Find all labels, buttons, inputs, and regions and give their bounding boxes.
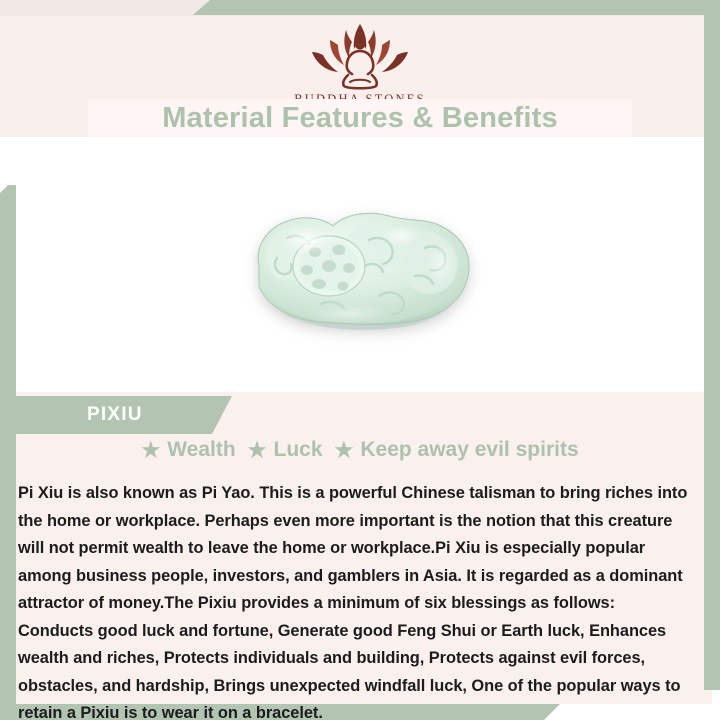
benefit-item-evil-spirits: ★ Keep away evil spirits xyxy=(335,438,579,462)
top-right-green-accent xyxy=(193,0,720,15)
star-icon: ★ xyxy=(141,440,160,461)
category-label: PIXIU xyxy=(87,404,143,426)
benefits-list: ★ Wealth ★ Luck ★ Keep away evil spirits xyxy=(0,438,720,462)
section-title-banner: Material Features & Benefits xyxy=(88,99,632,137)
benefit-label: Luck xyxy=(274,438,323,462)
jade-pixiu-svg xyxy=(229,204,491,334)
star-icon: ★ xyxy=(248,440,267,461)
page-title: Material Features & Benefits xyxy=(162,102,558,135)
product-image-container xyxy=(16,150,704,388)
product-info-card: BUDDHA STONES Material Features & Benefi… xyxy=(0,0,720,720)
category-band: PIXIU xyxy=(0,396,232,434)
benefit-label: Wealth xyxy=(167,438,235,462)
product-description: Pi Xiu is also known as Pi Yao. This is … xyxy=(18,480,694,720)
benefit-label: Keep away evil spirits xyxy=(360,438,578,462)
benefit-item-luck: ★ Luck xyxy=(248,438,323,462)
brand-logo: BUDDHA STONES xyxy=(0,18,720,107)
jade-pixiu-carving xyxy=(229,204,491,334)
benefit-item-wealth: ★ Wealth xyxy=(141,438,235,462)
star-icon: ★ xyxy=(335,440,354,461)
lotus-meditation-icon xyxy=(286,18,434,90)
